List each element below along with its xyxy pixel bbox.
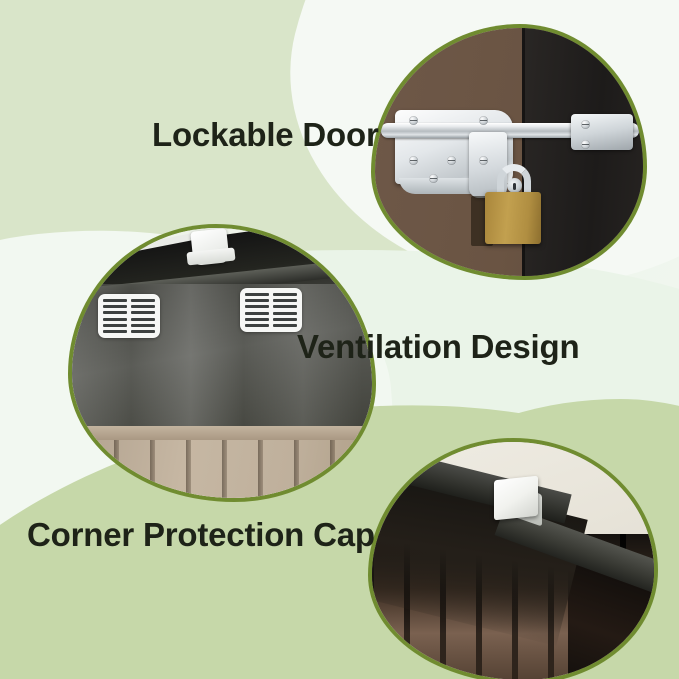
grill-slit [103,311,127,314]
grill-slit [131,318,155,321]
grill-slit [103,305,127,308]
wall-rib [150,440,155,498]
feature-label-corner-protection-cap: Corner Protection Cap [27,518,375,551]
screw-icon [479,156,488,165]
grill-slit [103,318,127,321]
wall-rib [294,440,299,498]
shed-wall-lower [72,440,372,498]
grill-slit [245,318,269,321]
grill-slit [131,330,155,333]
screw-icon [581,140,590,149]
corner-cap-scene [372,442,654,679]
grill-slit [131,299,155,302]
padlock-keyhole-icon [507,178,522,193]
grill-slit [273,312,297,315]
screw-icon [479,116,488,125]
grill-slit [245,305,269,308]
grill-column [245,293,269,327]
screw-icon [429,174,438,183]
grill-slit [273,293,297,296]
grill-slit [131,305,155,308]
feature-photo-lockable-door [375,28,643,276]
wall-rib [186,440,191,498]
grill-slit [273,305,297,308]
grill-slit [103,324,127,327]
grill-slit [273,299,297,302]
grill-slit [273,318,297,321]
grill-slit [103,330,127,333]
feature-label-ventilation-design: Ventilation Design [297,330,579,363]
grill-slit [273,324,297,327]
grill-slit [103,299,127,302]
ventilation-grill-icon [240,288,302,332]
wall-rib [222,440,227,498]
grill-slit [245,299,269,302]
screw-icon [581,120,590,129]
wall-rib [330,440,335,498]
wall-rib [366,440,371,498]
grill-column [103,299,127,333]
infographic-canvas: Lockable Door Ventilation Design Corner … [0,0,679,679]
feature-label-lockable-door: Lockable Door [152,118,379,151]
grill-column [273,293,297,327]
screw-icon [447,156,456,165]
grill-slit [131,311,155,314]
padlock-body [485,192,541,244]
corner-cap-on-roof [190,228,229,266]
feature-photo-corner-protection-cap [372,442,654,679]
grill-column [131,299,155,333]
ventilation-grill-icon [98,294,160,338]
lockable-door-scene [375,28,643,276]
wall-rib [258,440,263,498]
grill-slit [245,293,269,296]
screw-icon [409,156,418,165]
wall-rib [78,440,83,498]
grill-slit [131,324,155,327]
grill-slit [245,324,269,327]
corner-protection-cap-part [494,476,538,521]
screw-icon [409,116,418,125]
grill-slit [245,312,269,315]
wall-rib [114,440,119,498]
